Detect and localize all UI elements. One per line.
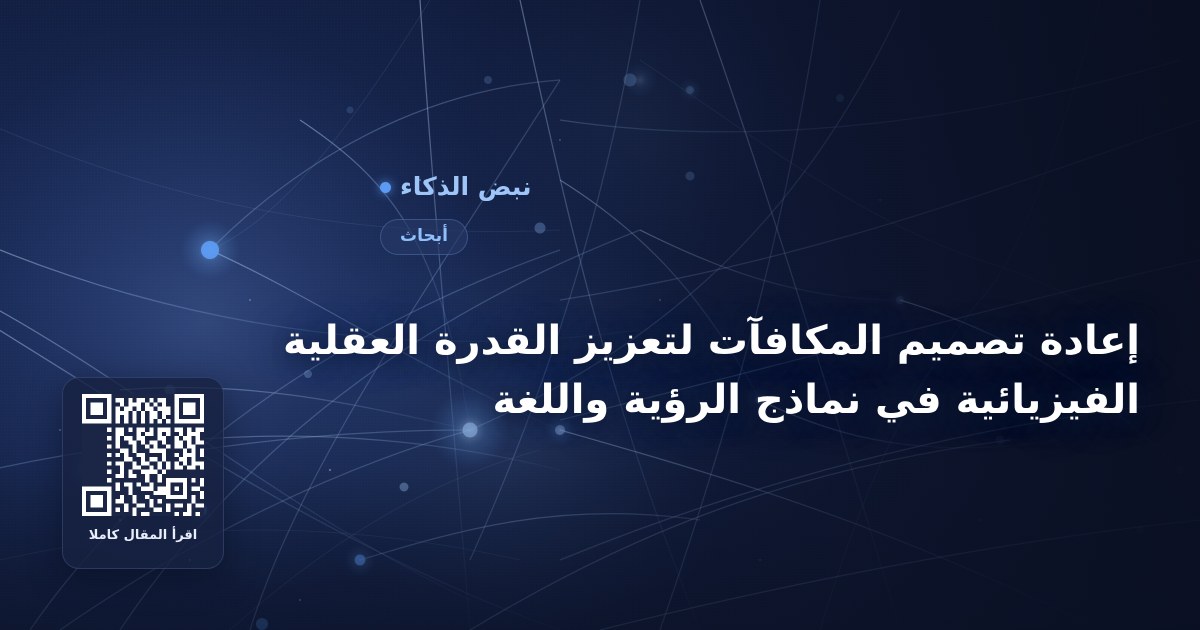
qr-card-caption: اقرأ المقال كاملا <box>89 529 198 542</box>
headline-line-2: الفيزيائية في نماذج الرؤية واللغة <box>380 371 1140 430</box>
brand: نبض الذكاء <box>380 173 532 201</box>
qr-card[interactable]: اقرأ المقال كاملا <box>62 377 224 569</box>
og-card: اقرأ المقال كاملا نبض الذكاء أبحاث إعادة… <box>0 0 1200 630</box>
headline-line-1: إعادة تصميم المكافآت لتعزيز القدرة العقل… <box>380 312 1140 371</box>
content-column: نبض الذكاء أبحاث إعادة تصميم المكافآت لت… <box>380 0 1200 630</box>
qr-code-icon <box>82 394 204 516</box>
brand-dot-icon <box>380 182 391 193</box>
page-title: إعادة تصميم المكافآت لتعزيز القدرة العقل… <box>380 312 1140 430</box>
category-badge[interactable]: أبحاث <box>380 219 468 255</box>
brand-name: نبض الذكاء <box>400 173 532 201</box>
